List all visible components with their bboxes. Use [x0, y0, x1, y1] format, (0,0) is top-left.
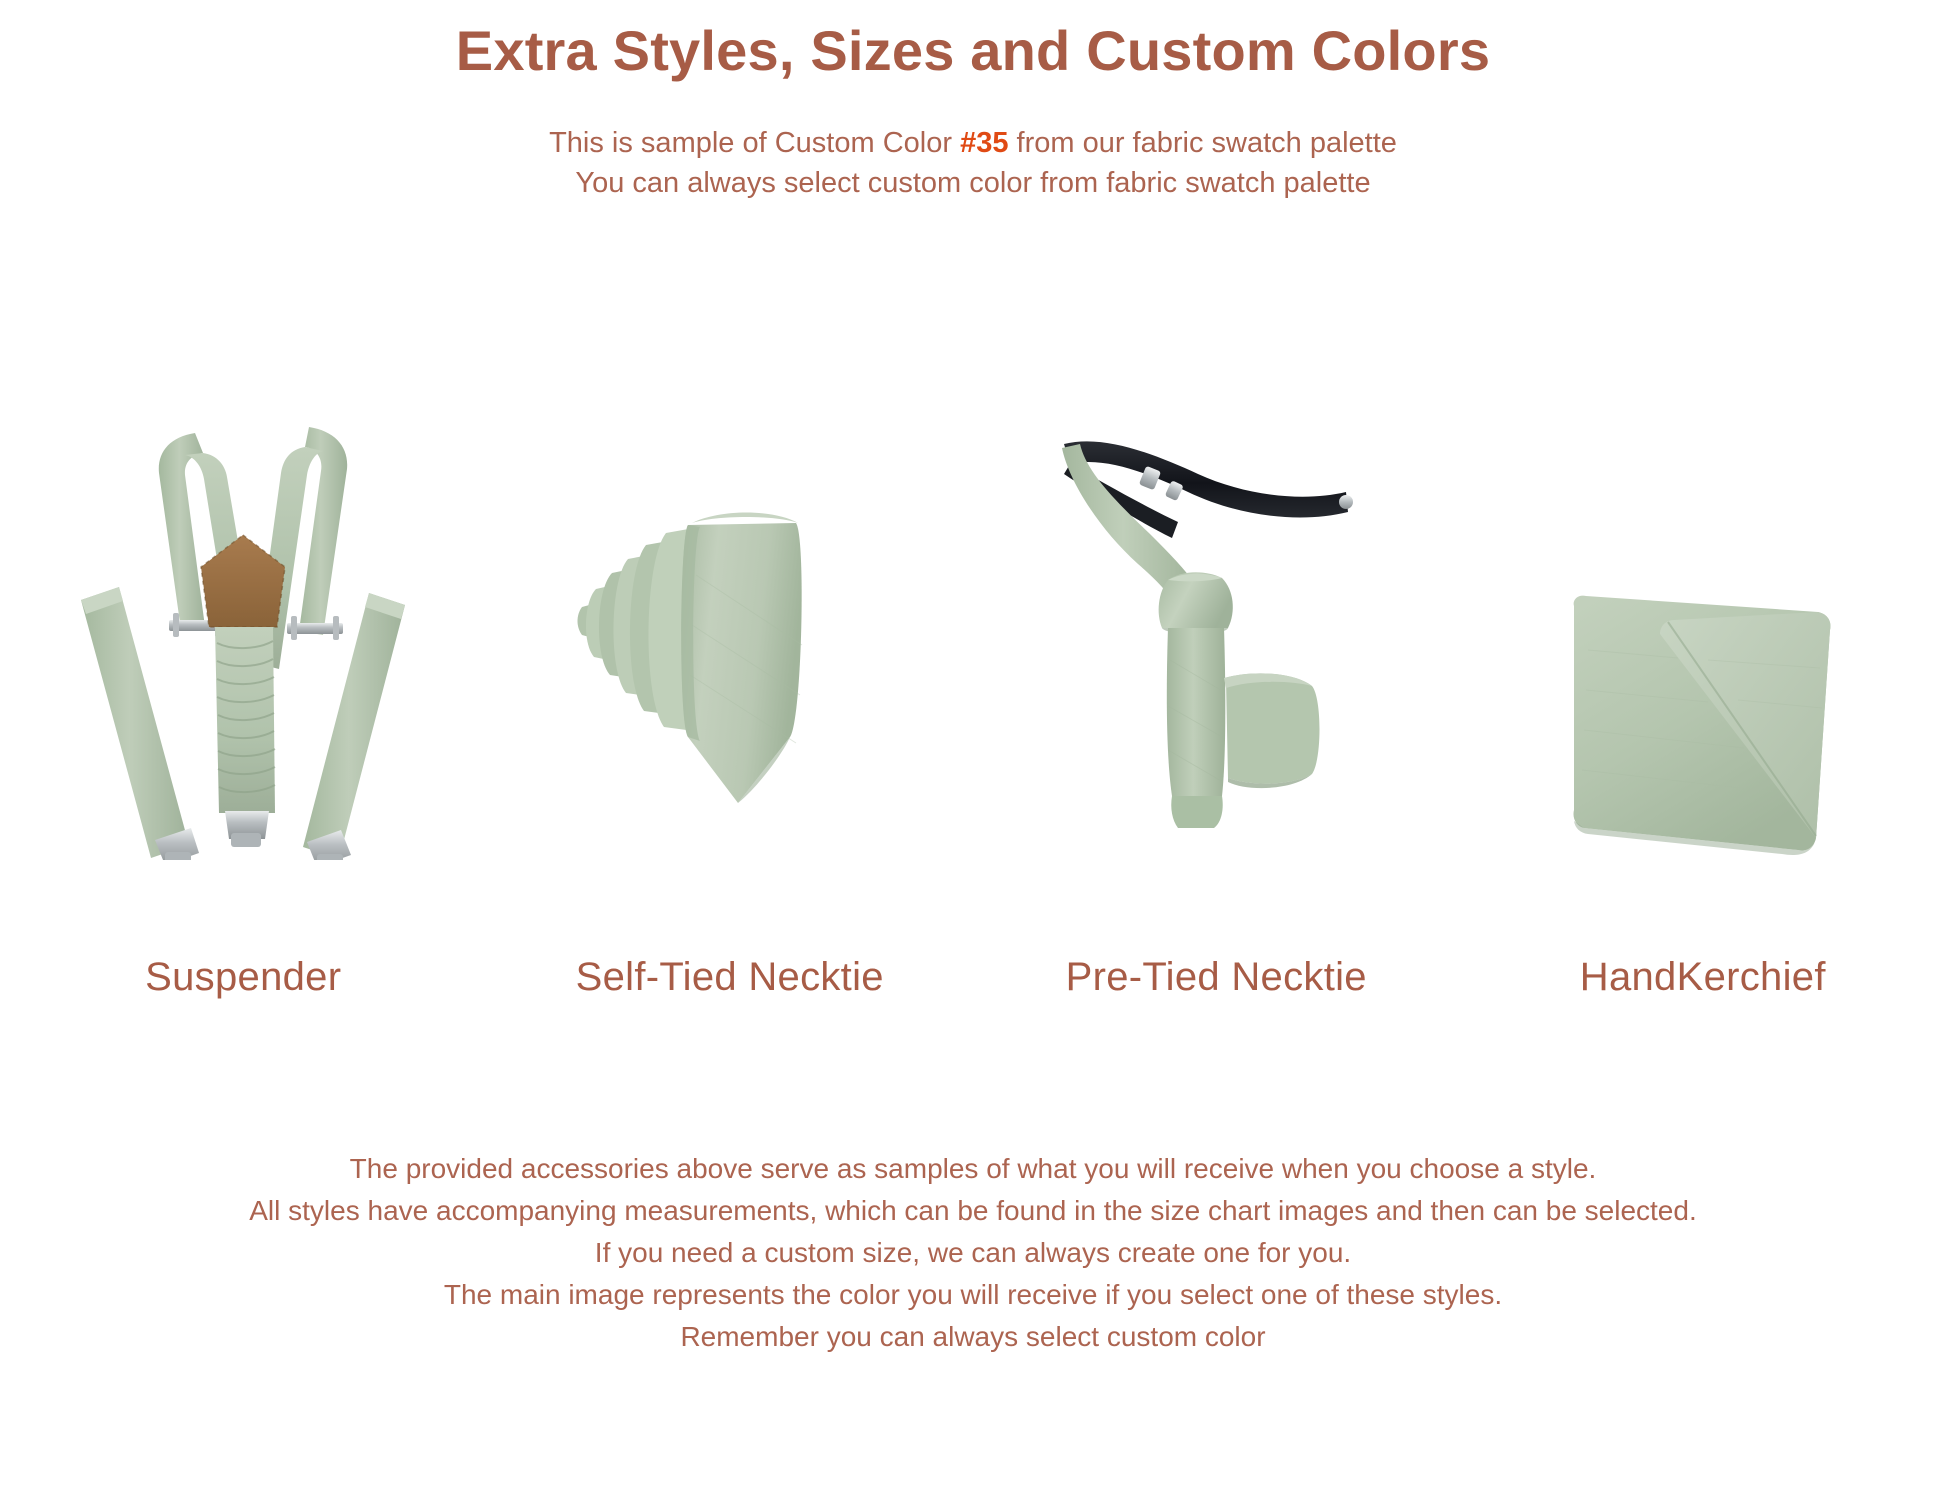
- product-label-row: Suspender Self-Tied Necktie Pre-Tied Nec…: [0, 955, 1946, 1000]
- self-tied-necktie-image: [570, 465, 890, 860]
- footer-note: The provided accessories above serve as …: [0, 1148, 1946, 1358]
- subtitle-text-before: This is sample of Custom Color: [549, 127, 960, 159]
- label-cell-self-tied-necktie: Self-Tied Necktie: [515, 955, 945, 1000]
- label-cell-handkerchief: HandKerchief: [1488, 955, 1918, 1000]
- product-label-suspender: Suspender: [145, 955, 341, 999]
- subtitle-text-after: from our fabric swatch palette: [1008, 127, 1396, 159]
- footer-line-4: The main image represents the color you …: [0, 1274, 1946, 1316]
- label-cell-suspender: Suspender: [28, 955, 458, 1000]
- product-cell-handkerchief[interactable]: [1488, 300, 1918, 860]
- subtitle-line-1: This is sample of Custom Color #35 from …: [0, 123, 1946, 163]
- custom-color-code: #35: [960, 127, 1008, 159]
- product-label-pre-tied-necktie: Pre-Tied Necktie: [1066, 955, 1367, 999]
- subtitle-block: This is sample of Custom Color #35 from …: [0, 123, 1946, 203]
- footer-line-3: If you need a custom size, we can always…: [0, 1232, 1946, 1274]
- footer-line-1: The provided accessories above serve as …: [0, 1148, 1946, 1190]
- header: Extra Styles, Sizes and Custom Colors Th…: [0, 0, 1946, 203]
- footer-line-2: All styles have accompanying measurement…: [0, 1190, 1946, 1232]
- product-cell-suspender[interactable]: [28, 300, 458, 860]
- pre-tied-necktie-image: [1046, 430, 1386, 860]
- product-label-handkerchief: HandKerchief: [1580, 955, 1826, 999]
- label-cell-pre-tied-necktie: Pre-Tied Necktie: [1001, 955, 1431, 1000]
- product-label-self-tied-necktie: Self-Tied Necktie: [576, 955, 884, 999]
- suspender-image: [73, 415, 413, 860]
- product-image-row: [0, 300, 1946, 860]
- product-cell-self-tied-necktie[interactable]: [515, 300, 945, 860]
- subtitle-line-2: You can always select custom color from …: [0, 163, 1946, 203]
- footer-line-5: Remember you can always select custom co…: [0, 1316, 1946, 1358]
- handkerchief-image: [1568, 590, 1838, 860]
- product-cell-pre-tied-necktie[interactable]: [1001, 300, 1431, 860]
- page-title: Extra Styles, Sizes and Custom Colors: [0, 22, 1946, 81]
